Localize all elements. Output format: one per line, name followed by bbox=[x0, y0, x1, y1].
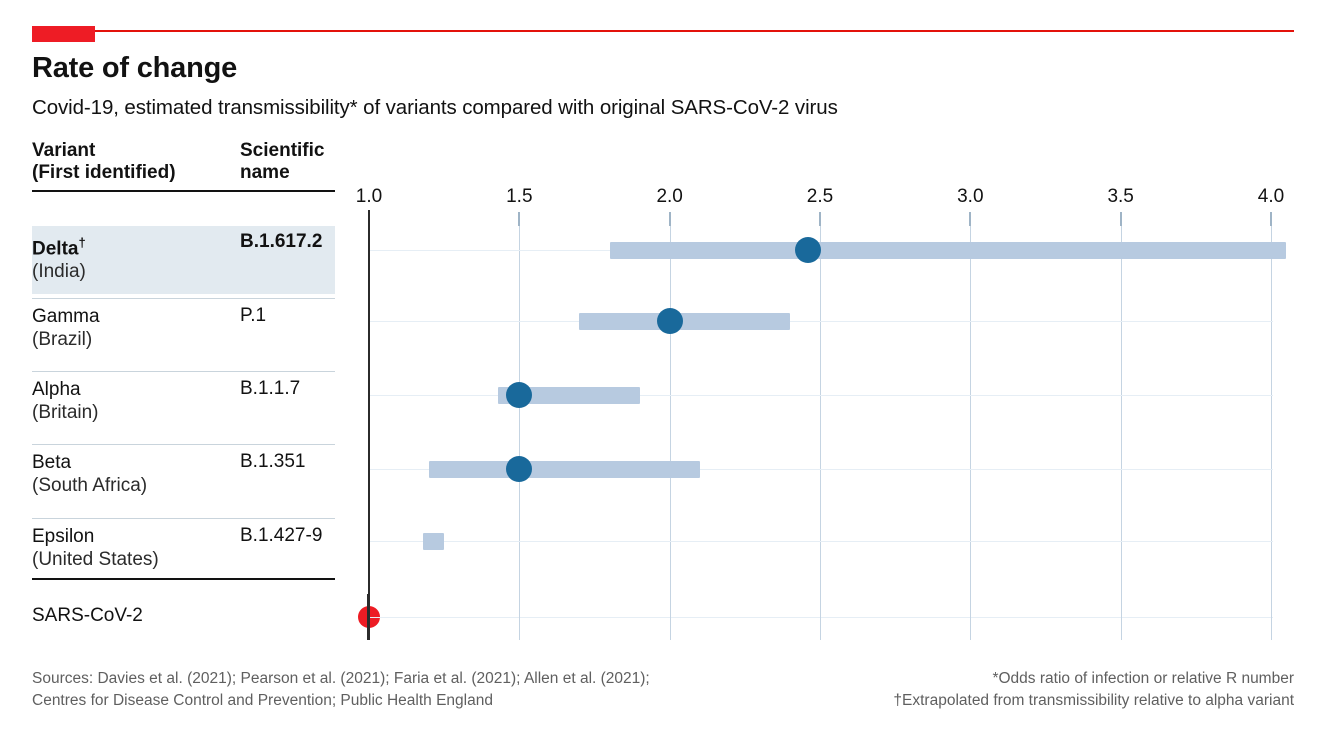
estimate-dot bbox=[795, 237, 821, 263]
note-line-2: †Extrapolated from transmissibility rela… bbox=[893, 690, 1294, 712]
variant-scientific-name: B.1.1.7 bbox=[240, 378, 300, 400]
variant-name: Epsilon bbox=[32, 525, 159, 548]
x-axis-tick-mark bbox=[669, 212, 671, 226]
gridline bbox=[519, 226, 520, 635]
baseline-gridline bbox=[670, 594, 671, 640]
baseline-axis-tick bbox=[367, 594, 370, 640]
x-axis-tick-label: 3.0 bbox=[957, 186, 983, 208]
table-row-divider bbox=[32, 371, 335, 372]
sources-line-1: Sources: Davies et al. (2021); Pearson e… bbox=[32, 668, 650, 690]
estimate-dot bbox=[657, 308, 683, 334]
gridline bbox=[1121, 226, 1122, 635]
range-bar bbox=[610, 242, 1287, 259]
table-row[interactable]: Epsilon(United States) bbox=[32, 525, 159, 571]
baseline-gridline bbox=[519, 594, 520, 640]
x-axis-tick-label: 1.5 bbox=[506, 186, 532, 208]
x-axis-tick-label: 1.0 bbox=[356, 186, 382, 208]
estimate-dot bbox=[506, 456, 532, 482]
table-row[interactable]: Beta(South Africa) bbox=[32, 451, 147, 497]
x-axis-tick-mark bbox=[518, 212, 520, 226]
baseline-gridline bbox=[820, 594, 821, 640]
gridline bbox=[970, 226, 971, 635]
gridline bbox=[1271, 226, 1272, 635]
range-bar bbox=[423, 533, 444, 550]
variant-name: Beta bbox=[32, 451, 147, 474]
gridline bbox=[820, 226, 821, 635]
chart-plot-area: 1.01.52.02.53.03.54.0Delta†(India)B.1.61… bbox=[0, 0, 1326, 732]
y-axis-line bbox=[368, 210, 370, 635]
x-axis-tick-label: 2.0 bbox=[656, 186, 682, 208]
baseline-gridline bbox=[970, 594, 971, 640]
variant-country: (South Africa) bbox=[32, 474, 147, 497]
variant-country: (United States) bbox=[32, 548, 159, 571]
baseline-gridline bbox=[1121, 594, 1122, 640]
x-axis-tick-label: 3.5 bbox=[1107, 186, 1133, 208]
baseline-guideline bbox=[370, 617, 1273, 618]
variant-name: Gamma bbox=[32, 305, 100, 328]
variant-country: (India) bbox=[32, 260, 86, 283]
variant-country: (Brazil) bbox=[32, 328, 100, 351]
row-guideline bbox=[370, 321, 1273, 322]
table-row-divider bbox=[32, 298, 335, 299]
gridline bbox=[670, 226, 671, 635]
x-axis-tick-label: 2.5 bbox=[807, 186, 833, 208]
estimate-dot bbox=[506, 382, 532, 408]
table-row[interactable]: Alpha(Britain) bbox=[32, 378, 99, 424]
variant-name: Delta† bbox=[32, 231, 86, 260]
sources-line-2: Centres for Disease Control and Preventi… bbox=[32, 690, 650, 712]
row-guideline bbox=[370, 541, 1273, 542]
note-line-1: *Odds ratio of infection or relative R n… bbox=[893, 668, 1294, 690]
range-bar bbox=[579, 313, 789, 330]
variant-scientific-name: B.1.351 bbox=[240, 451, 306, 473]
x-axis-tick-label: 4.0 bbox=[1258, 186, 1284, 208]
variant-name: Alpha bbox=[32, 378, 99, 401]
x-axis-tick-mark bbox=[969, 212, 971, 226]
methodology-note: *Odds ratio of infection or relative R n… bbox=[893, 668, 1294, 712]
dagger-footnote-marker: † bbox=[78, 235, 85, 250]
baseline-label: SARS-CoV-2 bbox=[32, 605, 143, 627]
variant-country: (Britain) bbox=[32, 401, 99, 424]
table-row[interactable]: Gamma(Brazil) bbox=[32, 305, 100, 351]
baseline-gridline bbox=[1271, 594, 1272, 640]
x-axis-tick-mark bbox=[1120, 212, 1122, 226]
x-axis-tick-mark bbox=[819, 212, 821, 226]
table-row-divider bbox=[32, 518, 335, 519]
x-axis-tick-mark bbox=[1270, 212, 1272, 226]
sources-note: Sources: Davies et al. (2021); Pearson e… bbox=[32, 668, 650, 712]
variant-scientific-name: B.1.427-9 bbox=[240, 525, 322, 547]
variant-scientific-name: P.1 bbox=[240, 305, 266, 327]
range-bar bbox=[429, 461, 700, 478]
table-row-divider bbox=[32, 444, 335, 445]
table-row[interactable]: Delta†(India) bbox=[32, 231, 86, 283]
variant-scientific-name: B.1.617.2 bbox=[240, 231, 322, 253]
